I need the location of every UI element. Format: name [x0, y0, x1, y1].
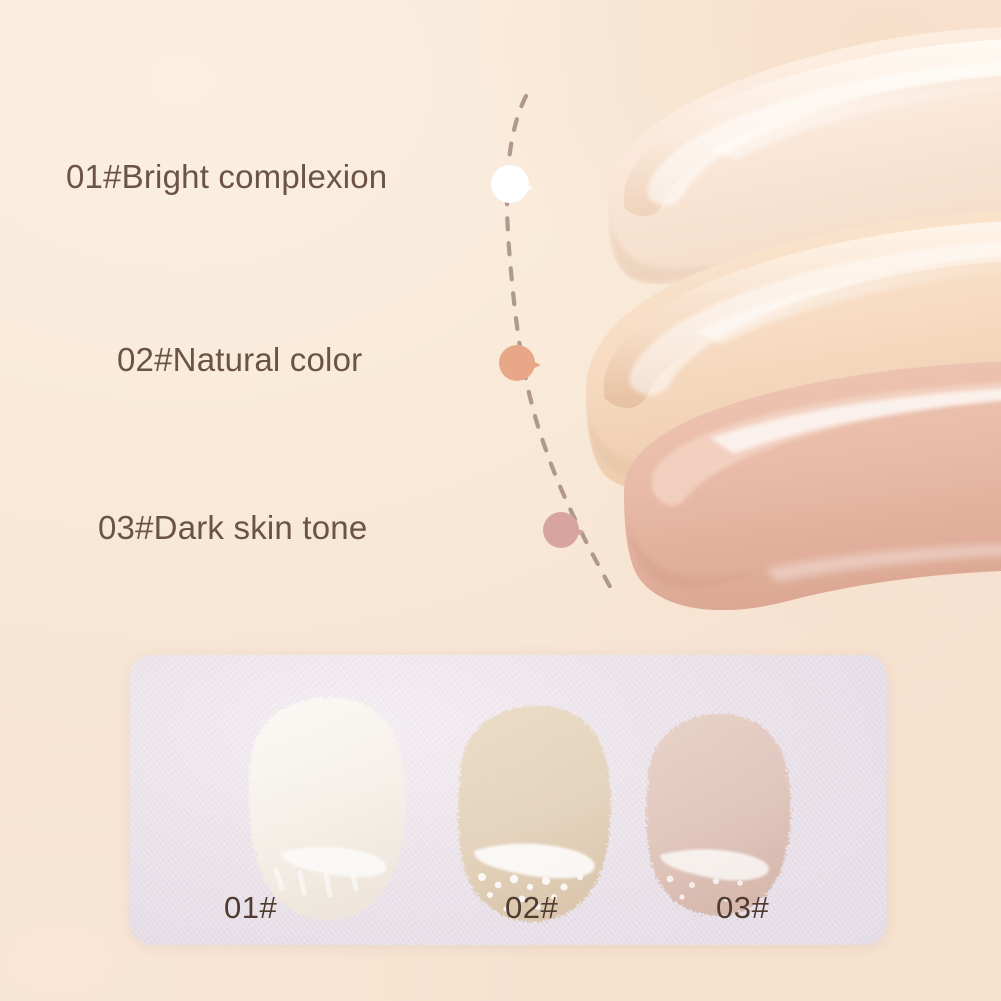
product-image: 01#Bright complexion 02#Natural color 03…: [0, 0, 1001, 1001]
swatch-tag-01: 01#: [224, 890, 277, 926]
swatch-tag-02: 02#: [505, 890, 558, 926]
swatch-tag-03: 03#: [716, 890, 769, 926]
shade-marker-03: [541, 508, 585, 552]
shade-marker-01: [489, 162, 533, 206]
shade-label-02: 02#Natural color: [117, 341, 362, 379]
shade-marker-02: [497, 341, 541, 385]
shade-label-03: 03#Dark skin tone: [98, 509, 367, 547]
shade-label-01: 01#Bright complexion: [66, 158, 387, 196]
